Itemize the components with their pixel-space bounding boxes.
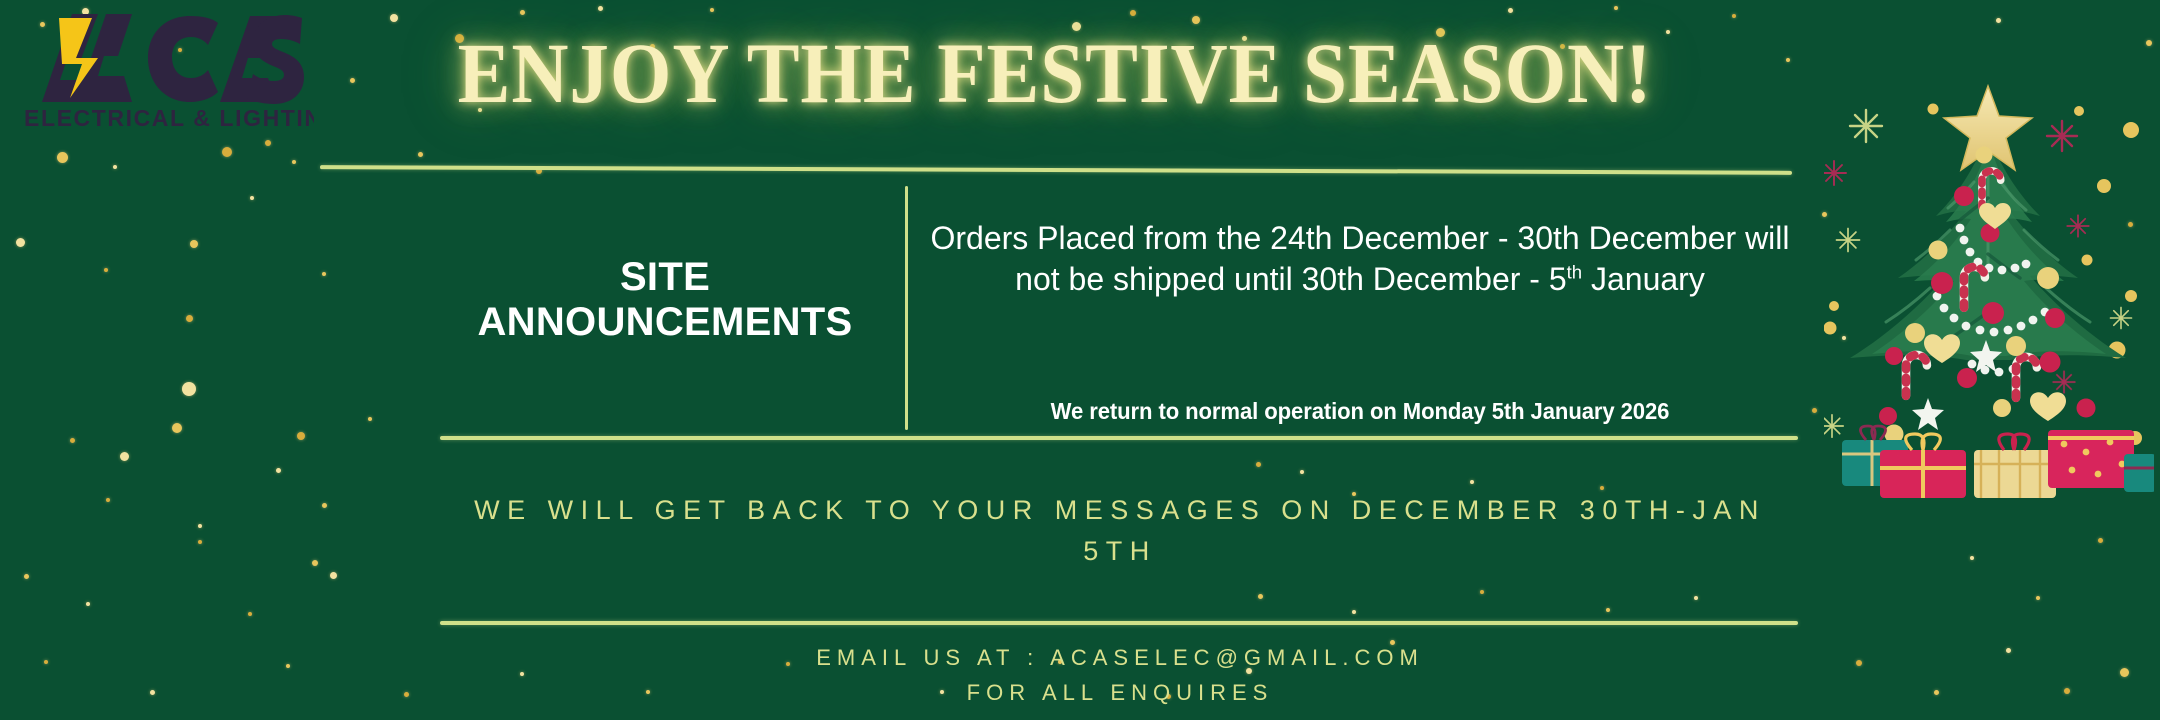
confetti-dot	[104, 268, 108, 272]
confetti-dot	[1508, 8, 1513, 13]
confetti-dot	[2098, 538, 2103, 543]
messages-response-note: WE WILL GET BACK TO YOUR MESSAGES ON DEC…	[440, 490, 1800, 571]
return-to-operation-note: We return to normal operation on Monday …	[938, 398, 1783, 425]
divider-bottom	[440, 621, 1798, 625]
confetti-dot	[182, 382, 196, 396]
confetti-dot	[1300, 470, 1304, 474]
confetti-dot	[1256, 462, 1261, 467]
ordinal-superscript: th	[1567, 261, 1582, 282]
confetti-dot	[1606, 608, 1610, 612]
contact-footer: EMAIL US AT : ACASELEC@GMAIL.COM FOR ALL…	[440, 640, 1800, 710]
confetti-dot	[1934, 690, 1939, 695]
confetti-dot	[598, 6, 603, 11]
confetti-dot	[265, 140, 271, 146]
confetti-dot	[1786, 58, 1790, 62]
confetti-dot	[1470, 480, 1474, 484]
confetti-dot	[1856, 660, 1862, 666]
confetti-dot	[250, 196, 254, 200]
confetti-dot	[368, 417, 372, 421]
confetti-dot	[1352, 610, 1356, 614]
confetti-dot	[276, 468, 281, 473]
confetti-dot	[186, 315, 193, 322]
confetti-dot	[1614, 6, 1618, 10]
festive-announcement-banner: ELECTRICAL & LIGHTING ENJOY THE FESTIVE …	[0, 0, 2160, 720]
confetti-dot	[322, 503, 327, 508]
confetti-dot	[198, 540, 202, 544]
divider-top	[320, 165, 1792, 175]
confetti-dot	[1732, 14, 1736, 18]
divider-middle	[440, 436, 1798, 440]
confetti-dot	[106, 498, 110, 502]
confetti-dot	[350, 78, 355, 83]
confetti-dot	[1130, 10, 1136, 16]
confetti-dot	[2036, 596, 2040, 600]
confetti-dot	[1694, 596, 1698, 600]
confetti-dot	[86, 602, 90, 606]
confetti-dot	[1192, 16, 1200, 24]
email-address-line: EMAIL US AT : ACASELEC@GMAIL.COM	[440, 640, 1800, 675]
confetti-dot	[150, 690, 155, 695]
shipping-announcement-part2: January	[1582, 261, 1705, 297]
confetti-dot	[1970, 556, 1974, 560]
confetti-dot	[1258, 594, 1263, 599]
confetti-dot	[710, 8, 714, 12]
confetti-dot	[520, 10, 525, 15]
confetti-dot	[198, 524, 202, 528]
confetti-dot	[418, 152, 423, 157]
confetti-dot	[44, 660, 48, 664]
confetti-dot	[248, 612, 252, 616]
confetti-dot	[70, 438, 75, 443]
acas-logo: ELECTRICAL & LIGHTING	[14, 6, 314, 131]
confetti-dot	[2146, 40, 2152, 46]
confetti-dot	[2120, 668, 2129, 677]
christmas-tree-illustration	[1824, 78, 2154, 498]
logo-tagline-text: ELECTRICAL & LIGHTING	[24, 105, 314, 131]
confetti-dot	[120, 452, 129, 461]
confetti-dot	[404, 692, 409, 697]
confetti-dot	[190, 240, 198, 248]
confetti-dot	[292, 160, 296, 164]
page-title: ENJOY THE FESTIVE SEASON!	[379, 30, 1731, 116]
confetti-dot	[390, 14, 398, 22]
site-announcements-line2: ANNOUNCEMENTS	[440, 300, 890, 345]
site-announcements-heading: SITE ANNOUNCEMENTS	[440, 255, 890, 345]
divider-vertical	[905, 186, 908, 430]
confetti-dot	[286, 664, 290, 668]
enquiries-line: FOR ALL ENQUIRES	[440, 675, 1800, 710]
confetti-dot	[2006, 648, 2011, 653]
confetti-dot	[113, 165, 117, 169]
confetti-dot	[2064, 688, 2070, 694]
confetti-dot	[24, 574, 29, 579]
confetti-dot	[297, 432, 305, 440]
confetti-dot	[57, 152, 68, 163]
confetti-dot	[1812, 408, 1817, 413]
confetti-dot	[172, 423, 182, 433]
confetti-dot	[1480, 590, 1484, 594]
confetti-dot	[16, 238, 25, 247]
site-announcements-line1: SITE	[440, 255, 890, 300]
shipping-announcement-text: Orders Placed from the 24th December - 3…	[920, 218, 1800, 300]
confetti-dot	[322, 272, 326, 276]
confetti-dot	[330, 572, 337, 579]
confetti-dot	[1996, 18, 2001, 23]
confetti-dot	[312, 560, 318, 566]
confetti-dot	[222, 147, 232, 157]
